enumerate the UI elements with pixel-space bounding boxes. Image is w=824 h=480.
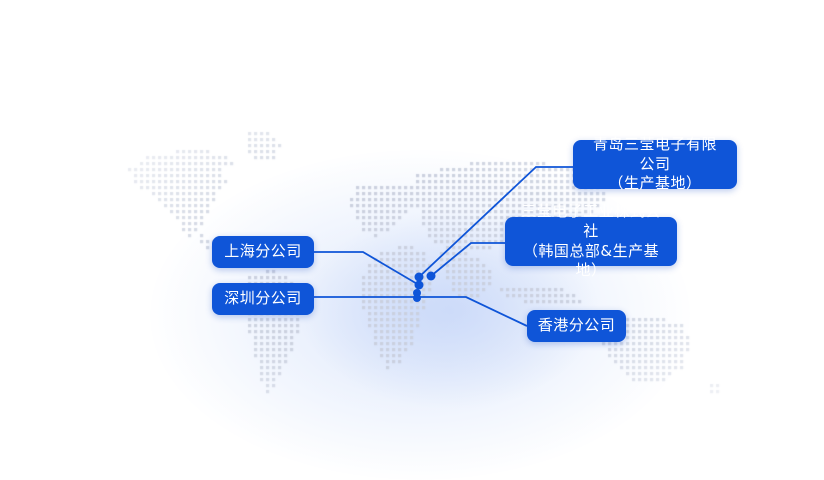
marker-qingdao[interactable] [415, 273, 424, 282]
connector-hongkong [417, 297, 527, 326]
marker-hongkong[interactable] [413, 294, 421, 302]
label-shenzhen-branch[interactable]: 深圳分公司 [212, 283, 314, 315]
marker-shanghai[interactable] [415, 281, 424, 290]
label-qingdao-factory[interactable]: 青岛三莹电子有限公司 （生产基地） [573, 140, 737, 189]
label-hongkong-branch[interactable]: 香港分公司 [527, 310, 626, 342]
label-korea-headquarters[interactable]: 三莹电子工业株式会社 （韩国总部&生产基地） [505, 217, 677, 266]
connector-shanghai [314, 252, 419, 285]
connector-layer [0, 0, 824, 480]
connector-korea [431, 243, 505, 276]
world-map-canvas: 青岛三莹电子有限公司 （生产基地） 三莹电子工业株式会社 （韩国总部&生产基地）… [0, 0, 824, 480]
label-shanghai-branch[interactable]: 上海分公司 [212, 236, 314, 268]
marker-korea[interactable] [427, 272, 436, 281]
